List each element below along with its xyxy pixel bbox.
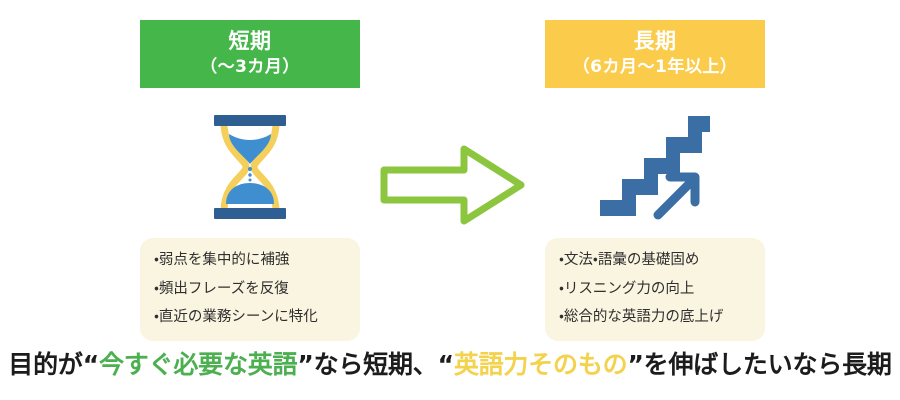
short-term-subtitle: （〜3カ月）	[146, 57, 354, 78]
short-term-bullet-card: ・弱点を集中的に補強 ・頻出フレーズを反復 ・直近の業務シーンに特化	[140, 238, 360, 341]
long-term-bullet-card: ・文法・語彙の基礎固め ・リスニング力の向上 ・総合的な英語力の底上げ	[545, 238, 765, 341]
caption-quote-open-2: “	[438, 350, 454, 379]
list-item: ・総合的な英語力の底上げ	[559, 308, 755, 328]
caption-highlight-long: 英語力そのもの	[454, 350, 628, 379]
caption-highlight-short: 今すぐ必要な英語	[99, 350, 297, 379]
long-term-icon-wrap	[545, 106, 765, 228]
short-term-icon-wrap	[140, 106, 360, 228]
list-item: ・直近の業務シーンに特化	[154, 308, 350, 328]
hourglass-icon	[198, 111, 302, 223]
list-item: ・リスニング力の向上	[559, 280, 755, 300]
long-term-subtitle: （6カ月〜1年以上）	[551, 57, 759, 78]
column-long-term: 長期 （6カ月〜1年以上） ・文法・語彙の基礎固め ・リスニング力の向上 ・総合…	[545, 20, 765, 341]
right-arrow-icon	[378, 142, 528, 228]
list-item: ・頻出フレーズを反復	[154, 280, 350, 300]
caption-part-2: なら短期、	[314, 350, 438, 379]
caption-quote-close-1: ”	[297, 350, 313, 379]
caption-quote-open-1: “	[83, 350, 99, 379]
caption-part-1: 目的が	[8, 350, 82, 379]
short-term-title: 短期	[146, 29, 354, 55]
long-term-header: 長期 （6カ月〜1年以上）	[545, 20, 765, 88]
stairs-up-arrow-icon	[596, 112, 714, 222]
column-short-term: 短期 （〜3カ月） ・弱点を集中的に補強	[140, 20, 360, 341]
comparison-figure: 短期 （〜3カ月） ・弱点を集中的に補強	[0, 0, 900, 400]
caption: 目的が“今すぐ必要な英語”なら短期、“英語力そのもの”を伸ばしたいなら長期	[0, 345, 900, 381]
caption-part-3: を伸ばしたいなら長期	[644, 350, 892, 379]
list-item: ・文法・語彙の基礎固め	[559, 251, 755, 271]
list-item: ・弱点を集中的に補強	[154, 251, 350, 271]
long-term-title: 長期	[551, 29, 759, 55]
caption-quote-close-2: ”	[627, 350, 643, 379]
short-term-header: 短期 （〜3カ月）	[140, 20, 360, 88]
center-arrow-wrap	[378, 142, 528, 228]
